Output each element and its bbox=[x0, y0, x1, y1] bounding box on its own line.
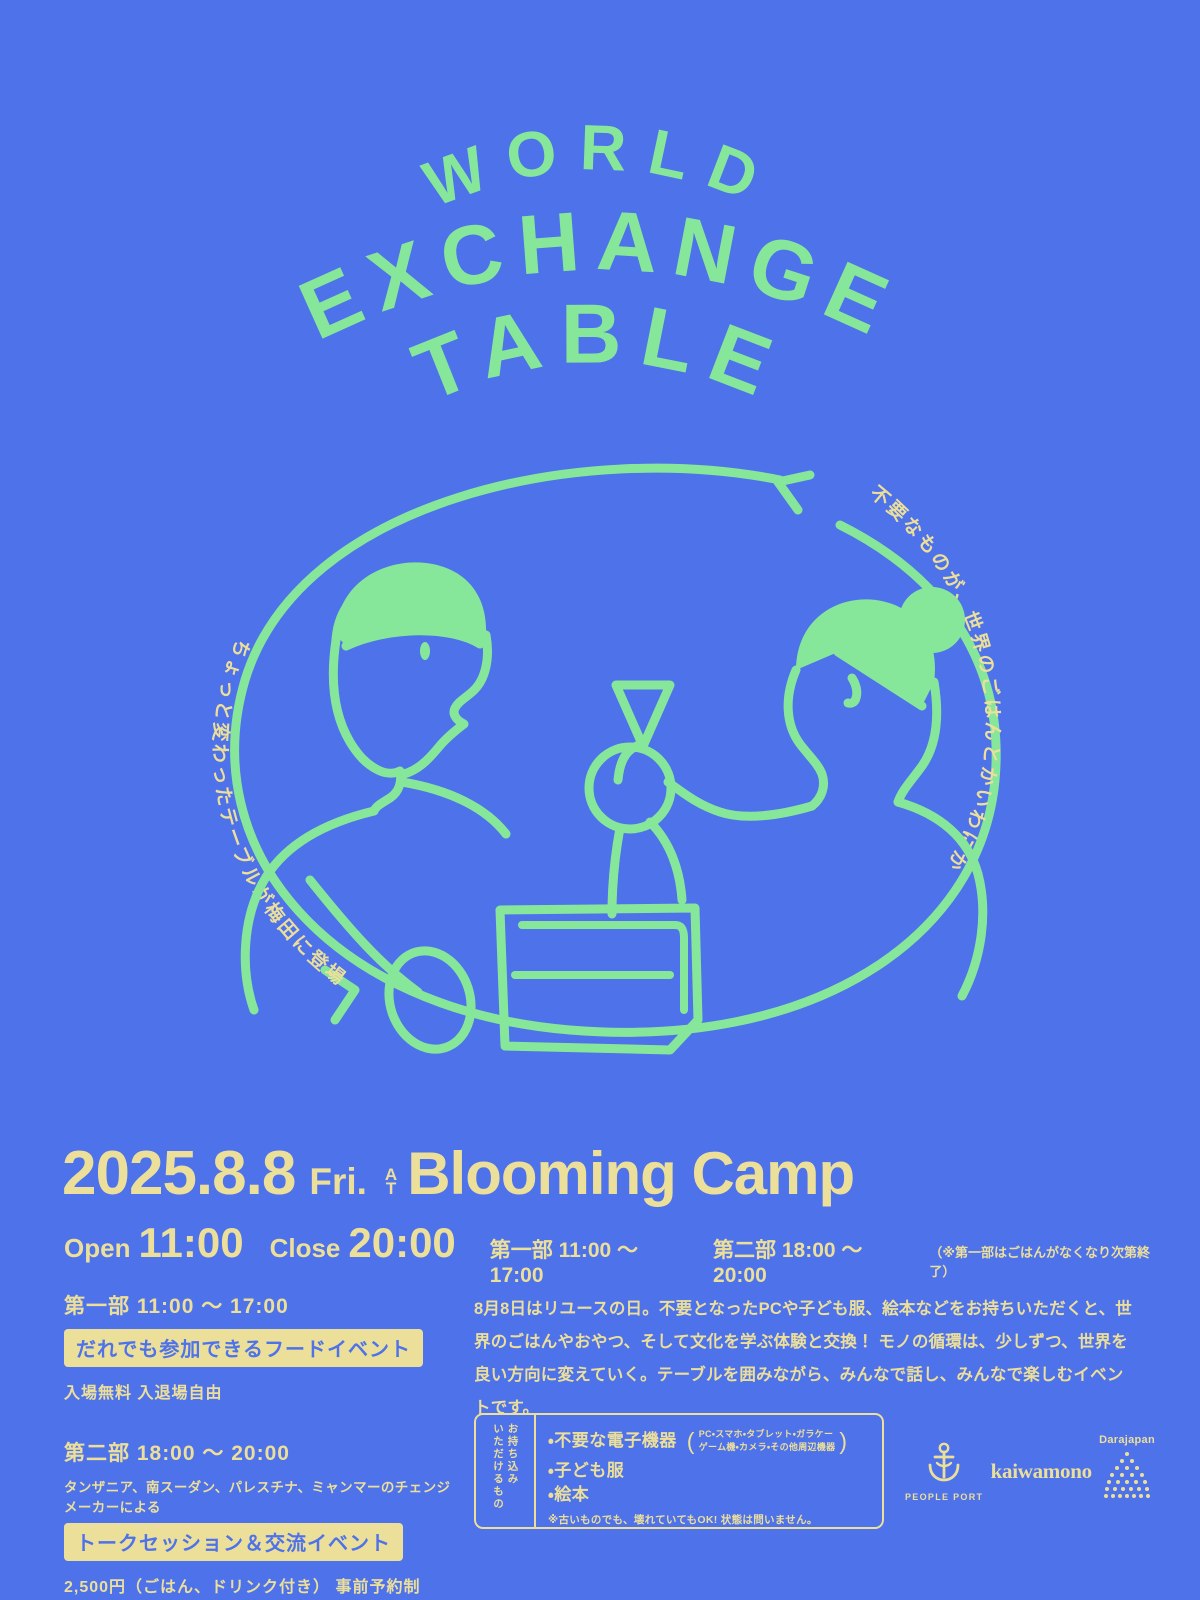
anchor-icon bbox=[923, 1441, 965, 1488]
part2-badge: トークセッション＆交流イベント bbox=[64, 1523, 403, 1561]
table-object bbox=[500, 685, 698, 1050]
bring-label-col-2: いただけるもの bbox=[493, 1423, 504, 1521]
bring-item-electronics: ・不要な電子機器 ( PC・スマホ・タブレット・ガラケー ゲーム機・カメラ・その… bbox=[548, 1424, 874, 1459]
part1-hours-inline: 第一部 11:00 〜 17:00 bbox=[490, 1234, 679, 1288]
at-letter-t: T bbox=[386, 1182, 396, 1196]
event-date: 2025.8.8 bbox=[62, 1143, 295, 1205]
close-label: Close bbox=[270, 1233, 341, 1264]
venue-name: Blooming Camp bbox=[407, 1144, 854, 1204]
part1-heading: 第一部 11:00 〜 17:00 bbox=[64, 1290, 454, 1320]
sponsor-logos: PEOPLE PORT kaiwamono Darajapan bbox=[905, 1416, 1155, 1526]
hours-footnote: （※第一部はごはんがなくなり次第終了） bbox=[929, 1242, 1154, 1280]
logo-darajapan-label: Darajapan bbox=[1099, 1434, 1155, 1446]
bring-item-1-examples: ( PC・スマホ・タブレット・ガラケー ゲーム機・カメラ・その他周辺機器 ) bbox=[683, 1424, 852, 1459]
part1-badge: だれでも参加できるフードイベント bbox=[64, 1329, 423, 1367]
part2-hours-inline: 第二部 18:00 〜 20:00 bbox=[713, 1234, 903, 1288]
dot-triangle-icon bbox=[1101, 1449, 1153, 1508]
section-spacer bbox=[64, 1403, 454, 1437]
part2-subtitle: タンザニア、南スーダン、パレスチナ、ミャンマーのチェンジメーカーによる bbox=[64, 1476, 454, 1516]
logo-kaiwamono: kaiwamono bbox=[991, 1459, 1092, 1484]
at-marker: A T bbox=[385, 1168, 397, 1197]
event-day-of-week: Fri. bbox=[309, 1163, 367, 1200]
part2-price-note: 2,500円（ごはん、ドリンク付き） 事前予約制 bbox=[64, 1573, 454, 1597]
program-details: 第一部 11:00 〜 17:00 だれでも参加できるフードイベント 入場無料 … bbox=[64, 1290, 454, 1597]
logo-kaiwamono-label: kaiwamono bbox=[991, 1459, 1092, 1484]
close-time: 20:00 bbox=[348, 1222, 455, 1264]
open-time: 11:00 bbox=[138, 1222, 243, 1264]
intro-paragraph: 8月8日はリユースの日。不要となったPCや子ども服、絵本などをお持ちいただくと、… bbox=[474, 1293, 1134, 1425]
poster-canvas: WORLD EXCHANGE TABLE ちょっと bbox=[0, 0, 1200, 1600]
bring-items-vertical-label: お持ち込み いただけるもの bbox=[476, 1415, 536, 1527]
bring-item-picture-books: ・絵本 bbox=[548, 1483, 874, 1508]
part1-note: 入場無料 入退場自由 bbox=[64, 1379, 454, 1403]
event-date-headline: 2025.8.8 Fri. A T Blooming Camp bbox=[62, 1143, 1142, 1213]
bring-items-box: お持ち込み いただけるもの ・不要な電子機器 ( PC・スマホ・タブレット・ガラ… bbox=[474, 1413, 884, 1529]
open-label: Open bbox=[64, 1233, 130, 1264]
poster-title: WORLD EXCHANGE TABLE bbox=[0, 50, 1200, 400]
logo-people-port: PEOPLE PORT bbox=[905, 1441, 983, 1502]
logo-people-port-label: PEOPLE PORT bbox=[905, 1492, 983, 1502]
bring-label-col-1: お持ち込み bbox=[507, 1423, 518, 1521]
person-left-figure bbox=[245, 562, 506, 1060]
opening-hours-row: Open 11:00 Close 20:00 第一部 11:00 〜 17:00… bbox=[64, 1222, 1154, 1288]
paren-close: ) bbox=[839, 1424, 847, 1459]
bring-item-kids-clothes: ・子ども服 bbox=[548, 1459, 874, 1484]
part2-heading: 第二部 18:00 〜 20:00 bbox=[64, 1437, 454, 1467]
logo-darajapan: Darajapan bbox=[1099, 1434, 1155, 1508]
examples-line-2: ゲーム機・カメラ・その他周辺機器 bbox=[699, 1441, 836, 1455]
bring-item-1-text: ・不要な電子機器 bbox=[548, 1429, 677, 1454]
bring-items-list: ・不要な電子機器 ( PC・スマホ・タブレット・ガラケー ゲーム機・カメラ・その… bbox=[536, 1415, 882, 1527]
central-illustration: ちょっと変わったテーブルが梅田に登場 不要なものが、世界のごはんとかいわにかわる… bbox=[150, 430, 1050, 1080]
bring-items-footnote: ※古いものでも、壊れていてもOK! 状態は問いません。 bbox=[548, 1512, 874, 1527]
person-right-figure bbox=[668, 587, 983, 996]
bring-item-1-examples-lines: PC・スマホ・タブレット・ガラケー ゲーム機・カメラ・その他周辺機器 bbox=[699, 1428, 836, 1455]
paren-open: ( bbox=[687, 1424, 695, 1459]
examples-line-1: PC・スマホ・タブレット・ガラケー bbox=[699, 1428, 836, 1442]
